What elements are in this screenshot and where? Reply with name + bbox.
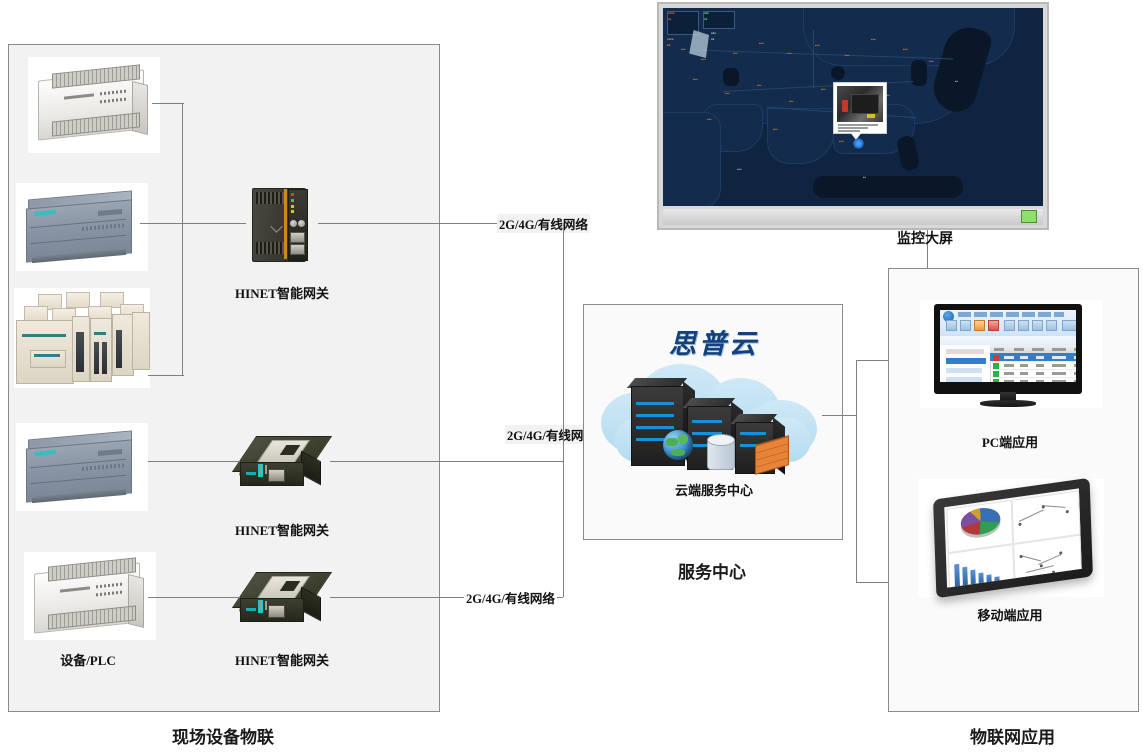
- cell: [1004, 380, 1014, 382]
- map-panel-tag: ■■: [704, 18, 707, 21]
- map-legend-tag: ■■: [711, 38, 714, 41]
- photo-yellow-part: [867, 114, 875, 118]
- map-landmass-caspian: [723, 68, 739, 86]
- map-sea-label: ■■: [863, 176, 866, 179]
- map-sea-label: ■■■: [737, 168, 742, 171]
- link-cloud-to-apps-trunk: [822, 415, 856, 416]
- cell: [1074, 380, 1076, 382]
- map-legend-tag: ■■■: [711, 32, 716, 35]
- link-plc4-to-gateway2: [148, 461, 240, 462]
- cloud-service-caption: 云端服务中心: [595, 480, 833, 499]
- map-location-pin[interactable]: [853, 138, 864, 149]
- ribbon-tab[interactable]: [974, 312, 987, 317]
- pc-software-ui: [940, 310, 1076, 382]
- gateway-pin-2: [265, 465, 267, 474]
- column-header: [1052, 348, 1066, 351]
- tablet-screen: [944, 488, 1081, 587]
- plc-mitsubishi-bottom: [24, 552, 156, 640]
- cell: [1052, 356, 1066, 359]
- server-led-row: [636, 414, 674, 417]
- monitoring-big-screen: ■■■■ ■■ ■■■ ■■ ■■■■ ■■ ■■■ ■■ ■■■ ■■■ ■■…: [657, 2, 1049, 230]
- ribbon-tab[interactable]: [1022, 312, 1035, 317]
- bar: [970, 570, 976, 587]
- cell: [1036, 372, 1044, 375]
- cell: [1004, 356, 1014, 359]
- tree-item[interactable]: [946, 377, 982, 382]
- mobile-application-image: [918, 479, 1104, 597]
- map-city-label: ■■■: [929, 60, 934, 63]
- server-led-row: [740, 432, 766, 435]
- map-panel-tag: ■■■■: [668, 12, 674, 15]
- ribbon-tab[interactable]: [1038, 312, 1051, 317]
- gateway-led-run: [291, 199, 294, 202]
- gateway-status-strip-2: [246, 472, 256, 475]
- map-landmass-lake: [831, 66, 845, 80]
- monitor-base: [980, 400, 1036, 407]
- map-city-label: ■■■: [773, 128, 778, 131]
- map-city-label: ■■■: [815, 44, 820, 47]
- map-city-label: ■■■: [845, 54, 850, 57]
- map-panel-tag: ■■■: [704, 12, 709, 15]
- column-header: [1074, 348, 1076, 351]
- device-plc-caption: 设备/PLC: [18, 650, 158, 669]
- toolbar-icon[interactable]: [1062, 320, 1076, 331]
- cell: [1074, 372, 1076, 375]
- gateway-caption-3: HINET智能网关: [202, 650, 362, 669]
- gateway-led-net-1: [291, 205, 294, 208]
- map-city-label: ■■■: [681, 48, 686, 51]
- gateway-caption-1: HINET智能网关: [202, 283, 362, 302]
- pc-ribbon-toolbar[interactable]: [940, 310, 1076, 337]
- cell: [1020, 356, 1028, 359]
- hinet-gateway-din-rail: [244, 184, 320, 266]
- map-landmass-korea: [911, 60, 927, 86]
- gateway-caption-2: HINET智能网关: [202, 520, 362, 539]
- popup-text-line-2: [838, 127, 868, 129]
- map-city-label: ■■■: [757, 84, 762, 87]
- rack-slot-3a: [94, 342, 99, 374]
- gateway-ethernet-port-2: [290, 244, 305, 255]
- cell: [1074, 356, 1076, 359]
- bar: [978, 572, 983, 585]
- rack-slot-2: [76, 332, 84, 372]
- gateway-antenna-connector-1: [290, 220, 297, 227]
- status-indicator-ok: [993, 371, 999, 377]
- gateway-ethernet-port-1: [290, 232, 305, 243]
- map-city-label: ■■■: [789, 100, 794, 103]
- rack-door: [30, 350, 66, 368]
- gateway-led-power: [291, 193, 294, 196]
- tree-item-selected[interactable]: [946, 358, 986, 364]
- gateway-status-strip-2: [246, 608, 256, 611]
- popup-text-line-1: [838, 124, 878, 126]
- server-led-row: [692, 420, 722, 423]
- ribbon-tab[interactable]: [990, 312, 1003, 317]
- group-field-devices-caption: 现场设备物联: [8, 723, 438, 748]
- globe-landmass: [666, 438, 678, 446]
- column-header: [994, 348, 1004, 351]
- rack-slot-4: [116, 330, 122, 368]
- map-city-label: ■■■: [903, 48, 908, 51]
- map-city-label: ■■■: [701, 58, 706, 61]
- column-header: [1014, 348, 1024, 351]
- gateway-accent-stripe: [284, 189, 287, 259]
- column-header: [1032, 348, 1044, 351]
- status-indicator-ok: [993, 363, 999, 369]
- group-iot-applications-caption: 物联网应用: [888, 723, 1137, 748]
- cell: [1074, 364, 1076, 367]
- big-screen-display: ■■■■ ■■ ■■■ ■■ ■■■■ ■■ ■■■ ■■ ■■■ ■■■ ■■…: [663, 8, 1043, 206]
- rack-slot-3b: [102, 342, 107, 374]
- cell: [1036, 380, 1044, 382]
- cell: [1020, 372, 1028, 375]
- ribbon-tab[interactable]: [1054, 312, 1064, 317]
- toolbar-icon-alert[interactable]: [974, 320, 985, 331]
- database-lid: [707, 434, 735, 446]
- status-indicator-alarm: [993, 355, 999, 361]
- map-landmass-indonesia: [813, 176, 963, 198]
- cell: [1020, 364, 1028, 367]
- big-screen-power-led: [1021, 210, 1037, 223]
- link-bus-to-gateway1: [182, 223, 246, 224]
- map-border: [813, 30, 814, 88]
- toolbar-icon[interactable]: [1046, 320, 1057, 331]
- map-city-label: ■■■: [733, 52, 738, 55]
- gateway-ethernet-port: [268, 605, 285, 618]
- cell: [1036, 364, 1044, 367]
- rack-module-5: [132, 312, 150, 370]
- map-city-label: ■■■: [839, 140, 844, 143]
- link-plc3-to-bus: [148, 375, 184, 376]
- network-label-3: 2G/4G/有线网络: [464, 588, 557, 607]
- group-service-center-caption: 服务中心: [583, 558, 841, 583]
- link-gateway2-to-cloud: [330, 461, 563, 462]
- pc-application-caption: PC端应用: [930, 432, 1090, 451]
- plc-siemens-top: [16, 183, 148, 271]
- rack-cap-2: [66, 292, 90, 308]
- bar: [962, 567, 968, 588]
- cell: [1004, 364, 1014, 367]
- gateway-vent-bottom: [256, 242, 286, 254]
- gateway-pin-2: [265, 601, 267, 610]
- toolbar-icon[interactable]: [946, 320, 957, 331]
- plc-mitsubishi-top: [28, 57, 160, 153]
- toolbar-icon[interactable]: [1032, 320, 1043, 331]
- map-panel-tag: ■■: [668, 18, 671, 21]
- bar: [954, 564, 960, 588]
- map-city-label: ■■■: [821, 88, 826, 91]
- plc-rack-modules: [14, 288, 150, 388]
- pc-application-image: [920, 300, 1102, 408]
- bar: [986, 574, 991, 584]
- diagram-canvas: 现场设备物联: [0, 0, 1143, 752]
- map-landmass-africa: [663, 112, 721, 206]
- rack-stripe-2: [34, 354, 60, 357]
- big-screen-bezel: [663, 209, 1043, 225]
- link-plc2-to-bus: [140, 223, 184, 224]
- link-plc5-to-gateway3: [148, 597, 240, 598]
- hinet-gateway-box-bottom: [238, 568, 330, 628]
- cloud-service-illustration: 思普云: [595, 322, 833, 512]
- gateway-antenna-connector-2: [298, 220, 305, 227]
- cell: [1052, 380, 1066, 382]
- cell: [1004, 372, 1014, 375]
- apps-trunk-vertical: [856, 360, 857, 582]
- bar: [994, 576, 999, 583]
- gateway-led-net-2: [291, 210, 294, 213]
- table-row[interactable]: [990, 377, 1076, 382]
- toolbar-icon[interactable]: [1018, 320, 1029, 331]
- network-node: [1052, 570, 1055, 573]
- database-icon: [707, 434, 733, 468]
- cell: [1052, 372, 1066, 375]
- tree-root[interactable]: [946, 349, 984, 354]
- tablet-device: [933, 478, 1093, 598]
- gateway-vent-top: [256, 192, 286, 204]
- cell: [1020, 380, 1028, 382]
- server-led-row: [636, 426, 674, 429]
- map-city-label: ■■■: [871, 38, 876, 41]
- map-city-label: ■■■: [693, 78, 698, 81]
- tree-item[interactable]: [946, 368, 982, 373]
- bus-vertical-left: [182, 103, 183, 375]
- globe-landmass: [671, 449, 685, 456]
- map-city-label: ■■■: [725, 92, 730, 95]
- link-plc1-to-bus: [152, 103, 184, 104]
- map-sea-label: ■■: [955, 80, 958, 83]
- gateway-ethernet-port: [268, 469, 285, 482]
- globe-landmass: [678, 434, 688, 444]
- ribbon-tab[interactable]: [1006, 312, 1019, 317]
- mobile-application-caption: 移动端应用: [930, 605, 1090, 624]
- cloud-trunk-vertical: [563, 223, 564, 597]
- device-photo: [837, 86, 883, 122]
- pc-monitor: [934, 304, 1082, 394]
- ribbon-tab[interactable]: [958, 312, 971, 317]
- hinet-gateway-box-mid: [238, 432, 330, 492]
- plc-siemens-mid: [16, 423, 148, 511]
- globe-icon: [663, 430, 693, 460]
- photo-device-body: [851, 94, 879, 114]
- map-city-label: ■■■: [707, 118, 712, 121]
- map-city-label: ■■■: [787, 52, 792, 55]
- toolbar-icon-stop[interactable]: [988, 320, 999, 331]
- server-led-row: [636, 402, 674, 405]
- gateway-pin-1: [260, 465, 262, 474]
- map-legend-tag: ■■■■: [667, 38, 673, 41]
- gateway-pin-1: [260, 601, 262, 610]
- map-legend-tag: ■■: [667, 44, 670, 47]
- pc-tree-sidebar[interactable]: [940, 345, 991, 382]
- rack-stripe-1: [22, 334, 66, 337]
- cell: [1052, 364, 1066, 367]
- toolbar-icon[interactable]: [1004, 320, 1015, 331]
- network-label-1: 2G/4G/有线网络: [497, 214, 590, 233]
- map-city-label: ■■■: [759, 42, 764, 45]
- photo-red-part: [842, 100, 848, 112]
- rack-stripe-3: [94, 332, 106, 335]
- status-indicator-ok: [993, 379, 999, 383]
- toolbar-icon[interactable]: [960, 320, 971, 331]
- map-device-popup[interactable]: [833, 82, 887, 134]
- big-screen-caption: 监控大屏: [845, 228, 1005, 248]
- cell: [1036, 356, 1044, 359]
